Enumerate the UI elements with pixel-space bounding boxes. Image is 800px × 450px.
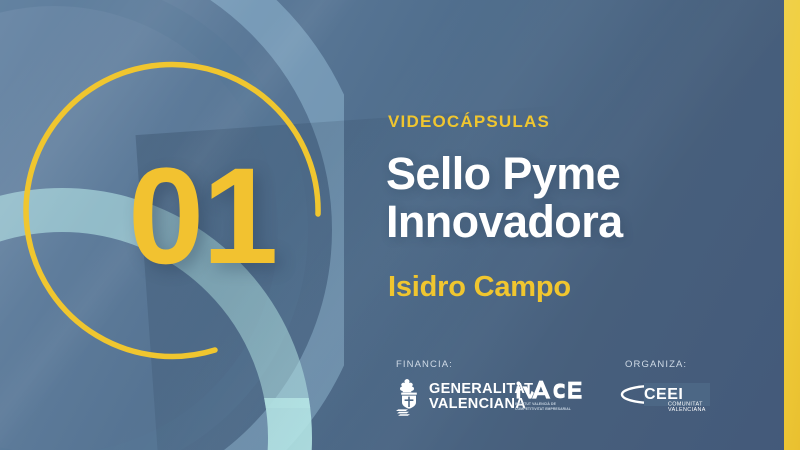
ivace-subtitle: INSTITUT VALENCIÀ DE COMPETITIVITAT EMPR… bbox=[515, 402, 585, 411]
ivace-wordmark-icon bbox=[515, 380, 585, 400]
presentation-slide: 01 VIDEOCÁPSULAS Sello Pyme Innovadora I… bbox=[0, 0, 800, 450]
svg-text:CEEI: CEEI bbox=[644, 386, 683, 403]
organiza-label: ORGANIZA: bbox=[625, 359, 687, 370]
ceei-wordmark-icon: CEEI COMUNITAT VALENCIANA bbox=[618, 382, 714, 412]
right-accent-bar bbox=[784, 0, 800, 450]
svg-text:VALENCIANA: VALENCIANA bbox=[668, 407, 706, 412]
ivace-sub-line-1: INSTITUT VALENCIÀ DE bbox=[515, 402, 556, 406]
ceei-logo: CEEI COMUNITAT VALENCIANA CEEI COMUNITAT… bbox=[618, 382, 714, 417]
title-line-2: Innovadora bbox=[386, 198, 623, 246]
ivace-logo: INSTITUT VALENCIÀ DE COMPETITIVITAT EMPR… bbox=[515, 380, 585, 411]
page-title: Sello Pyme Innovadora bbox=[386, 150, 623, 246]
ivace-sub-line-2: COMPETITIVITAT EMPRESARIAL bbox=[515, 407, 571, 411]
kicker-label: VIDEOCÁPSULAS bbox=[388, 112, 550, 132]
generalitat-crest-icon bbox=[396, 378, 422, 416]
generalitat-valenciana-logo: GENERALITAT VALENCIANA bbox=[396, 378, 533, 416]
title-line-1: Sello Pyme bbox=[386, 150, 623, 198]
speaker-name: Isidro Campo bbox=[388, 271, 571, 304]
financia-label: FINANCIA: bbox=[396, 359, 453, 370]
slide-number: 01 bbox=[128, 148, 276, 285]
